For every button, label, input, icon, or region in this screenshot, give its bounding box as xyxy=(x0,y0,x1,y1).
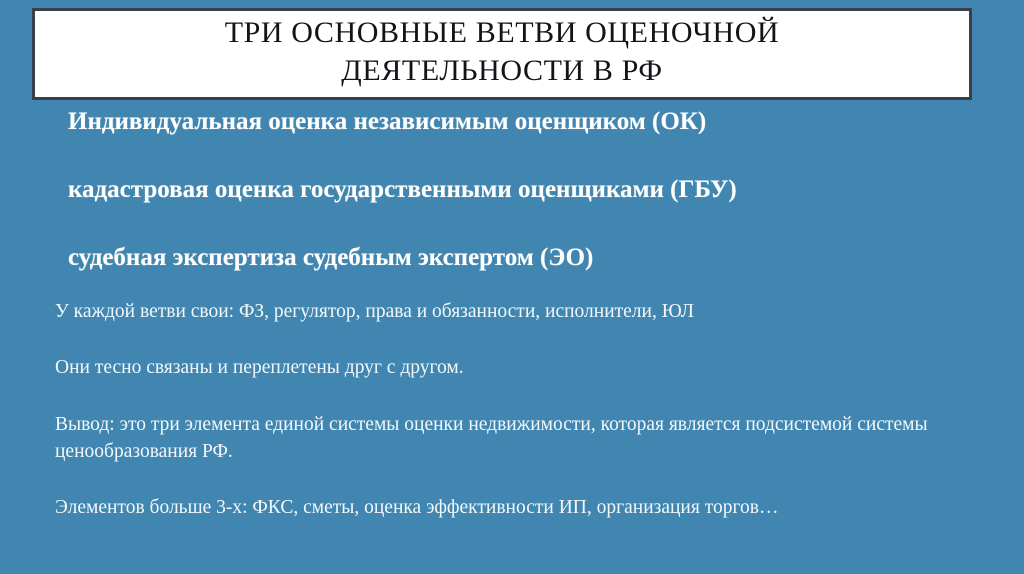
branch-item-forensic-expertise: судебная экспертиза судебным экспертом (… xyxy=(68,244,1008,272)
note-item-branch-attributes: У каждой ветви свои: ФЗ, регулятор, прав… xyxy=(55,298,985,325)
note-item-interconnection: Они тесно связаны и переплетены друг с д… xyxy=(55,354,985,381)
slide-title-line-1: ТРИ ОСНОВНЫЕ ВЕТВИ ОЦЕНОЧНОЙ xyxy=(225,14,780,52)
branch-item-cadastral-valuation: кадастровая оценка государственными оцен… xyxy=(68,176,1008,204)
note-item-conclusion: Вывод: это три элемента единой системы о… xyxy=(55,411,970,465)
branch-list: Индивидуальная оценка независимым оценщи… xyxy=(68,108,1008,272)
slide-title-box: ТРИ ОСНОВНЫЕ ВЕТВИ ОЦЕНОЧНОЙ ДЕЯТЕЛЬНОСТ… xyxy=(32,8,972,100)
notes-list: У каждой ветви свои: ФЗ, регулятор, прав… xyxy=(55,298,985,521)
presentation-slide: ТРИ ОСНОВНЫЕ ВЕТВИ ОЦЕНОЧНОЙ ДЕЯТЕЛЬНОСТ… xyxy=(0,0,1024,574)
note-item-more-elements: Элементов больше 3-х: ФКС, сметы, оценка… xyxy=(55,494,945,521)
branch-item-individual-valuation: Индивидуальная оценка независимым оценщи… xyxy=(68,108,1008,136)
slide-title-line-2: ДЕЯТЕЛЬНОСТИ В РФ xyxy=(341,52,662,90)
